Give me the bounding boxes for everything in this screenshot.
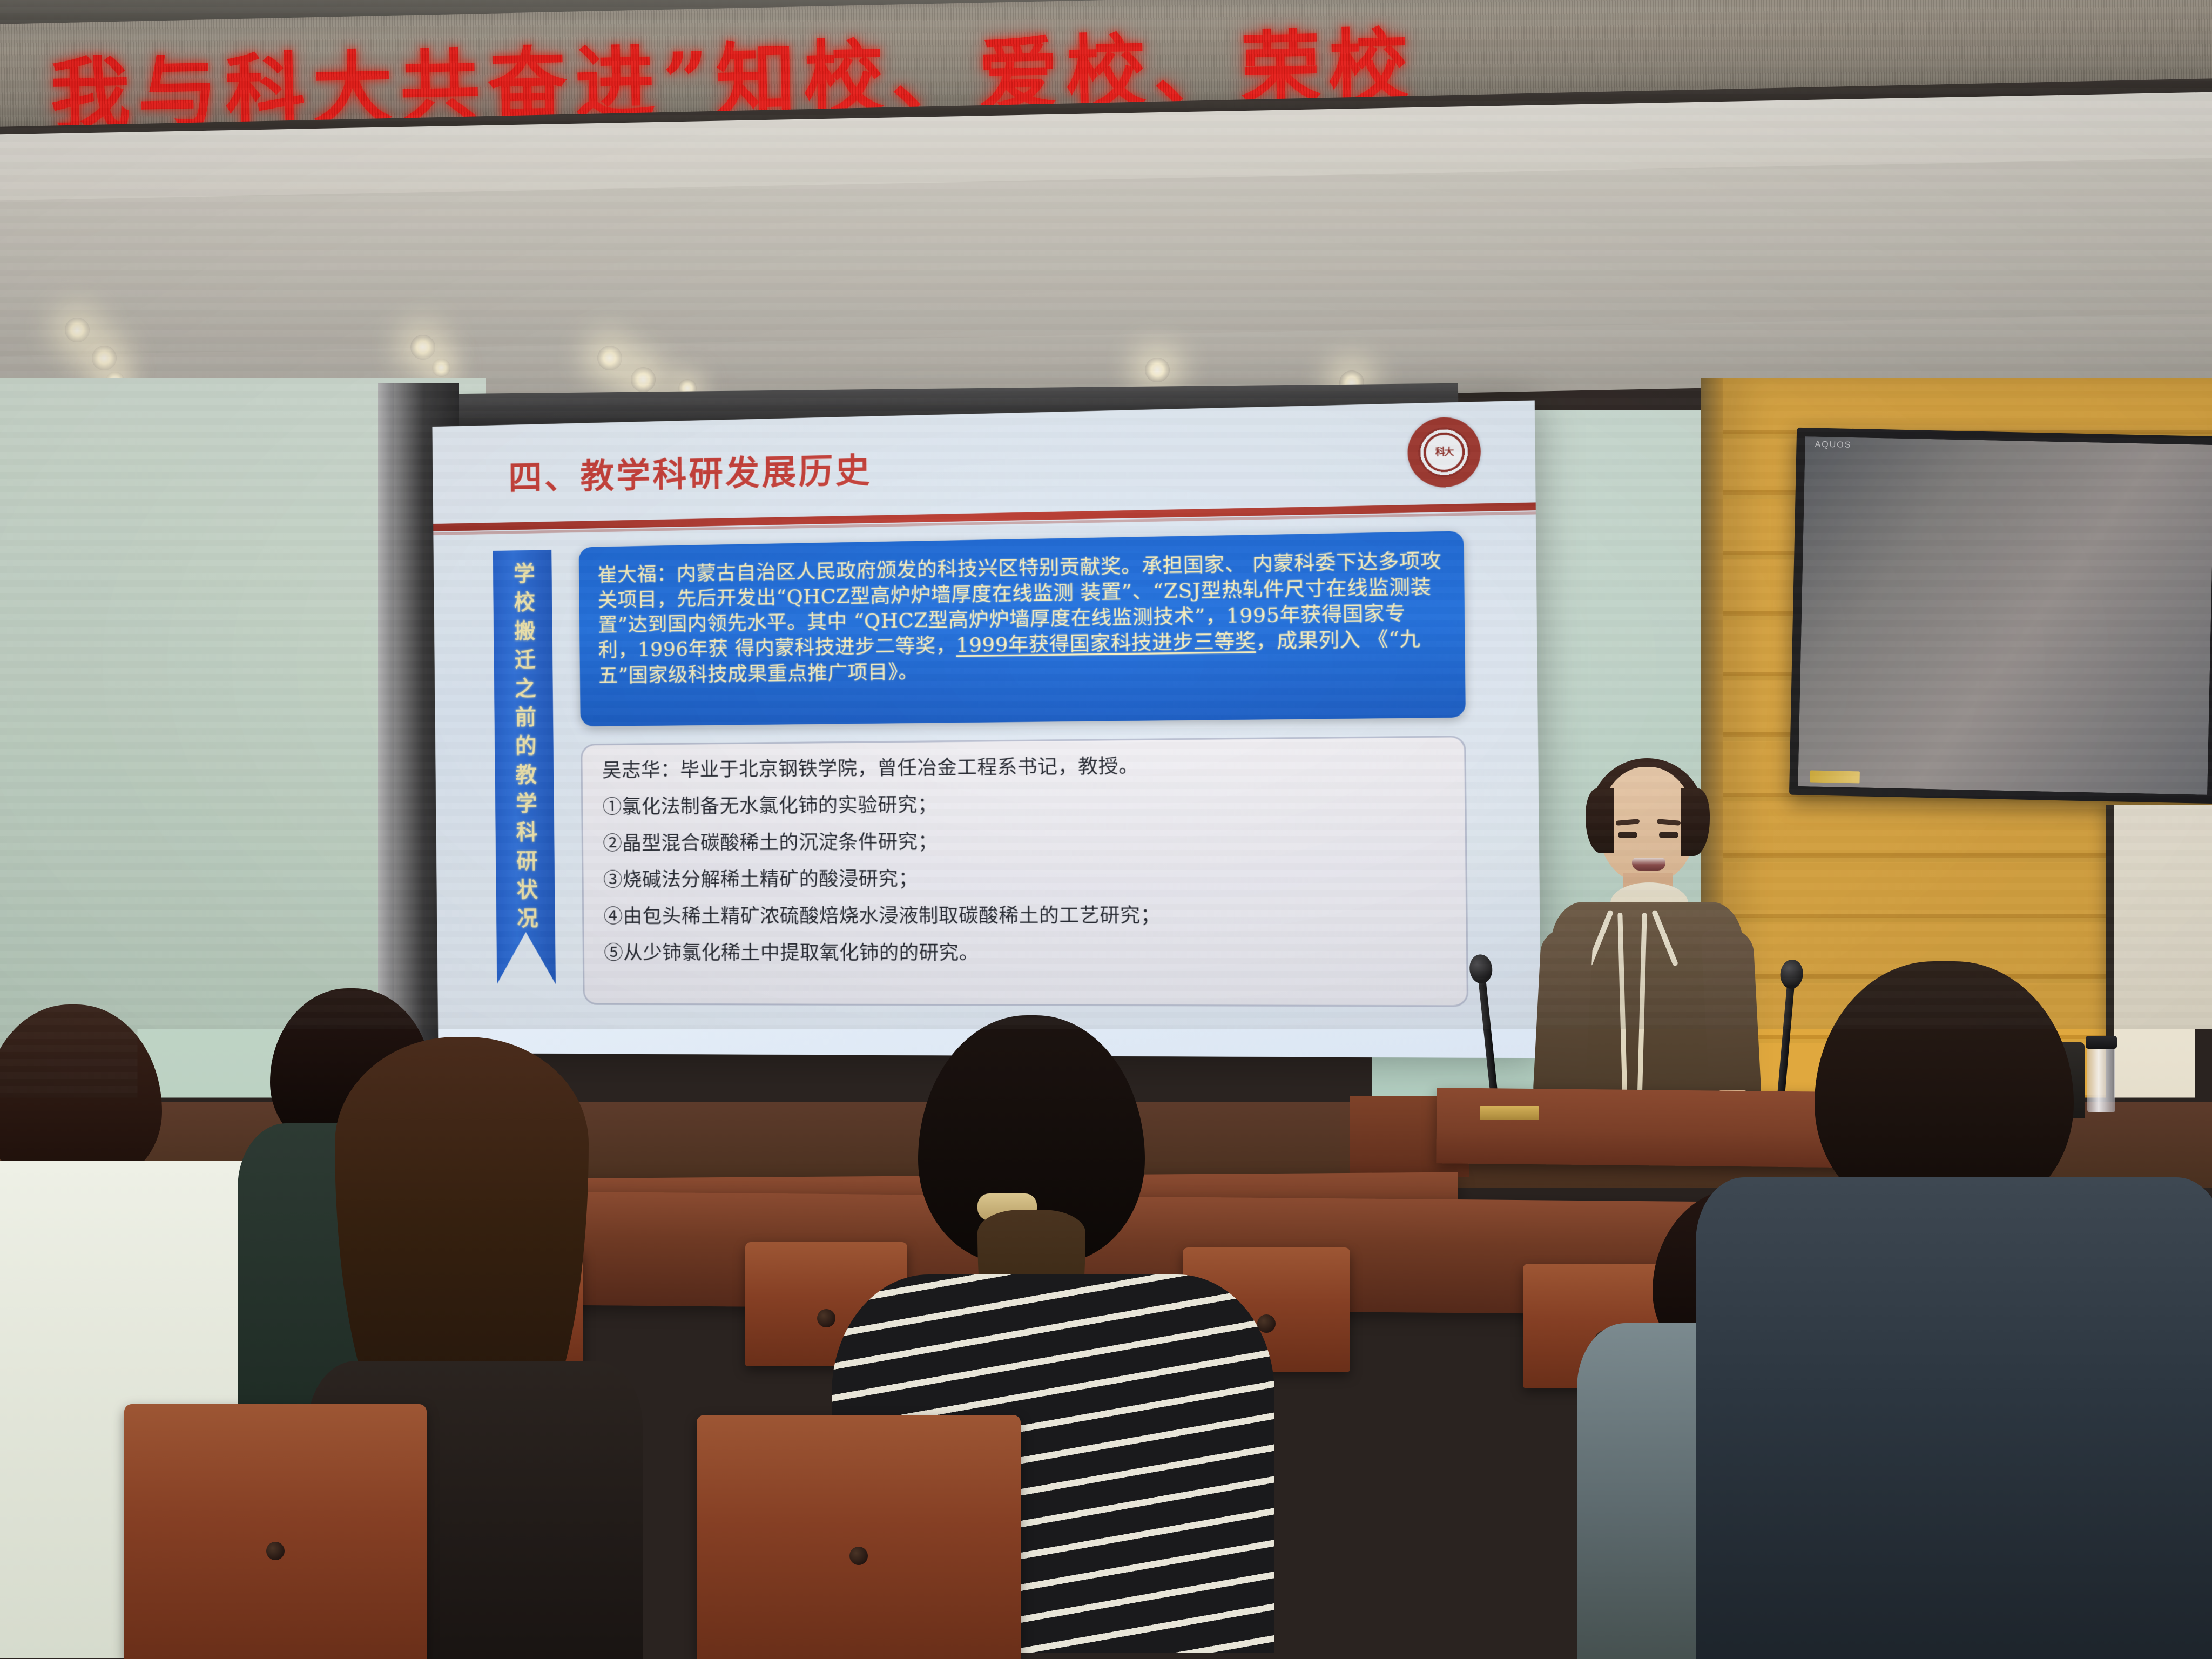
ceiling-downlight-icon <box>65 318 90 342</box>
slide-section-ribbon: 学校搬迁之前的教学科研状况 <box>493 550 556 984</box>
presenter-hair-right <box>1681 788 1710 856</box>
list-item: ②晶型混合碳酸稀土的沉淀条件研究； <box>603 830 1444 854</box>
audience-hair <box>0 1004 162 1183</box>
list-item: ③烧碱法分解稀土精矿的酸浸研究； <box>603 868 1445 890</box>
wall-mounted-tv: AQUOS <box>1789 428 2212 804</box>
slide-title: 四、教学科研发展历史 <box>508 443 872 500</box>
presenter-arm-left <box>1532 928 1593 1109</box>
presenter-hair-left <box>1586 788 1614 853</box>
presentation-slide: 四、教学科研发展历史 科大 学校搬迁之前的教学科研状况 崔大福：内蒙古自治区人民… <box>432 400 1541 1058</box>
ceiling-downlight-icon <box>631 367 656 392</box>
ceiling-downlight-icon <box>1145 358 1170 382</box>
auditorium-seat-foreground <box>697 1415 1021 1659</box>
tv-brand-label: AQUOS <box>1815 440 1851 450</box>
paper-bag-on-bench <box>1428 1501 1553 1577</box>
ceiling-downlight-icon <box>432 359 450 377</box>
blue-line-5b: ，成果列入 <box>1256 629 1360 653</box>
presenter-eye-right <box>1659 832 1678 838</box>
ceiling-downlight-icon <box>597 346 622 370</box>
slide-section-ribbon-text: 学校搬迁之前的教学科研状况 <box>511 562 536 936</box>
list-item: ④由包头稀土精矿浓硫酸焙烧水浸液制取碳酸稀土的工艺研究； <box>603 906 1445 926</box>
presenter-eye-left <box>1618 832 1637 838</box>
slide-blue-callout-box: 崔大福：内蒙古自治区人民政府颁发的科技兴区特别贡献奖。承担国家、 内蒙科委下达多… <box>579 531 1466 726</box>
list-item: ⑤从少铈氯化稀土中提取氧化铈的的研究。 <box>604 943 1445 963</box>
head-table-nameplate <box>1480 1106 1539 1120</box>
ceiling-downlight-icon <box>92 346 117 370</box>
slide-list-box: 吴志华：毕业于北京钢铁学院，曾任冶金工程系书记，教授。 ①氯化法制备无水氯化铈的… <box>581 736 1468 1007</box>
auditorium-seat-foreground <box>1566 1480 1869 1659</box>
lecture-hall-photo: 我与科大共奋进”知校、爱校、荣校 四、教学科研发展历史 科大 学校搬迁之前的教学… <box>0 0 2212 1659</box>
blue-line-5-underlined: 1999年获得国家科技进步三等奖 <box>956 630 1256 657</box>
blue-line-5a: 得内蒙科技进步二等奖， <box>734 635 956 660</box>
ceiling-downlight-icon <box>410 335 435 360</box>
podium-microphone <box>1491 972 1498 1096</box>
auditorium-seat-foreground <box>124 1404 427 1659</box>
slide-blue-callout-text: 崔大福：内蒙古自治区人民政府颁发的科技兴区特别贡献奖。承担国家、 内蒙科委下达多… <box>597 548 1445 689</box>
tv-badge-sticker <box>1810 770 1859 783</box>
list-item: ①氯化法制备无水氯化铈的实验研究； <box>603 792 1444 817</box>
presenter-mouth <box>1632 858 1665 871</box>
tv-screen <box>1798 436 2212 795</box>
list-intro: 吴志华：毕业于北京钢铁学院，曾任冶金工程系书记，教授。 <box>602 754 1444 781</box>
university-seal-icon: 科大 <box>1407 416 1481 488</box>
university-seal-label: 科大 <box>1426 434 1462 470</box>
